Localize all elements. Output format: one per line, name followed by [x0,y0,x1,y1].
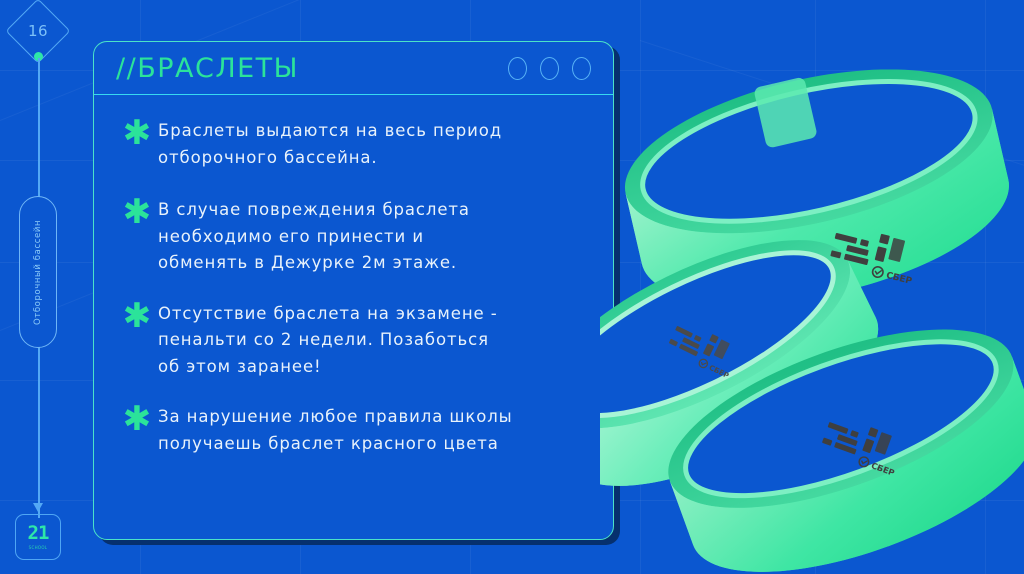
slide-root: 16 Отборочный бассейн 21 SCHOOL //БРАСЛЕ… [0,0,1024,574]
bracelet-brand-text-1: СБЕР [885,271,913,287]
asterisk-icon: ✱ [116,197,158,227]
section-pill-label: Отборочный бассейн [19,196,57,348]
school-logo-subtitle: SCHOOL [29,545,48,550]
asterisk-icon: ✱ [116,404,158,434]
window-control-circle-3-icon[interactable] [572,57,591,80]
list-item-text: Отсутствие браслета на экзамене - пеналь… [158,301,498,381]
asterisk-icon: ✱ [116,118,158,148]
content-card: //БРАСЛЕТЫ ✱ Браслеты выдаются на весь п… [93,41,614,540]
rail-arrow-icon [33,503,43,512]
list-item: ✱ Браслеты выдаются на весь период отбор… [116,118,587,171]
card-header: //БРАСЛЕТЫ [94,42,613,95]
bracelets-illustration: СБЕР СБЕР [600,0,1024,574]
list-item-text: В случае повреждения браслета необходимо… [158,197,470,277]
list-item: ✱ В случае повреждения браслета необходи… [116,197,587,277]
bracelets-svg: СБЕР СБЕР [600,0,1024,574]
left-rail: 16 Отборочный бассейн 21 SCHOOL [0,0,96,574]
window-control-circle-1-icon[interactable] [508,57,527,80]
list-item-text: Браслеты выдаются на весь период отбороч… [158,118,502,171]
list-item-text: За нарушение любое правила школы получае… [158,404,513,457]
list-item: ✱ За нарушение любое правила школы получ… [116,404,587,457]
slide-number: 16 [15,8,61,54]
bullet-list: ✱ Браслеты выдаются на весь период отбор… [94,95,613,457]
school-logo-number: 21 [28,524,49,543]
asterisk-icon: ✱ [116,301,158,331]
window-controls[interactable] [508,57,591,80]
window-control-circle-2-icon[interactable] [540,57,559,80]
school-logo: 21 SCHOOL [15,514,61,560]
page-title: //БРАСЛЕТЫ [116,53,299,84]
list-item: ✱ Отсутствие браслета на экзамене - пена… [116,301,587,381]
